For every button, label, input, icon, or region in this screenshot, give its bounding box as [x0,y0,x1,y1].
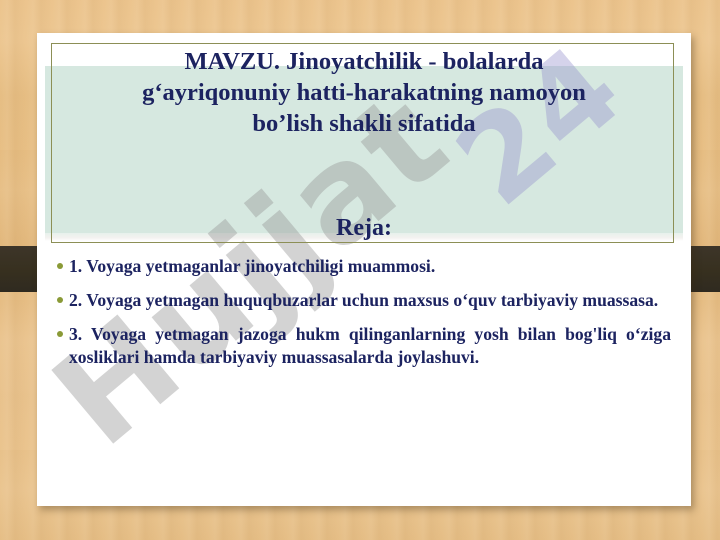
bullet-dot-icon [57,331,63,337]
title-line-3: bo’lish shakli sifatida [59,108,669,139]
list-item: 2. Voyaga yetmagan huquqbuzarlar uchun m… [55,289,671,312]
slide-canvas: 24 Hujjat MAVZU. Jinoyatchilik - bolalar… [0,0,720,540]
presentation-slide: 24 Hujjat MAVZU. Jinoyatchilik - bolalar… [37,33,691,506]
title-line-2: g‘ayriqonuniy hatti-harakatning namoyon [59,77,669,108]
list-item: 3. Voyaga yetmagan jazoga hukm qilinganl… [55,323,671,369]
bullet-dot-icon [57,297,63,303]
title-line-1: MAVZU. Jinoyatchilik - bolalarda [59,46,669,77]
slide-content-area: 24 Hujjat MAVZU. Jinoyatchilik - bolalar… [45,40,683,497]
desk-shadow-band-left [0,246,42,292]
bullet-dot-icon [57,263,63,269]
slide-title: MAVZU. Jinoyatchilik - bolalarda g‘ayriq… [59,46,669,139]
agenda-list: 1. Voyaga yetmaganlar jinoyatchiligi mua… [55,255,671,380]
list-item-text: 1. Voyaga yetmaganlar jinoyatchiligi mua… [69,256,435,276]
section-heading-reja: Reja: [45,215,683,242]
list-item: 1. Voyaga yetmaganlar jinoyatchiligi mua… [55,255,671,278]
list-item-text: 2. Voyaga yetmagan huquqbuzarlar uchun m… [69,290,658,310]
list-item-text: 3. Voyaga yetmagan jazoga hukm qilinganl… [69,324,671,367]
